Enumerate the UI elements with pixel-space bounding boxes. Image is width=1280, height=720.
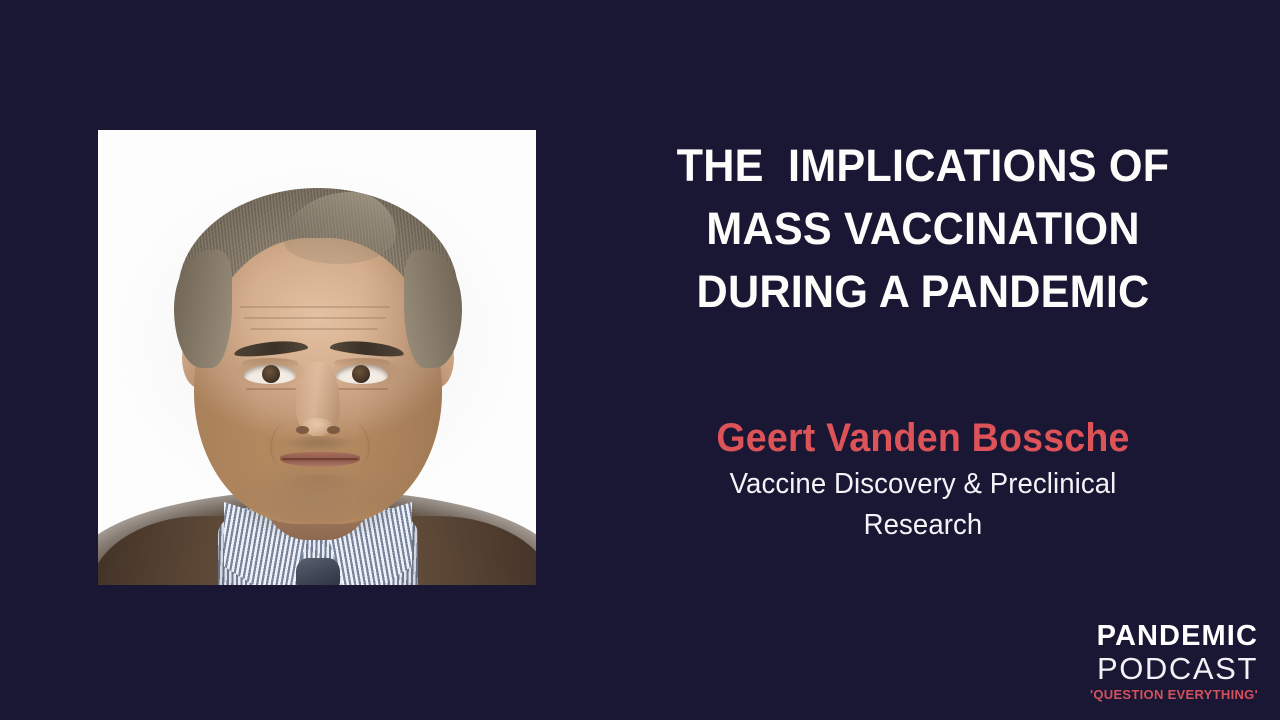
- portrait-chin-shadow: [278, 474, 362, 494]
- logo-tagline: 'QUESTION EVERYTHING': [1090, 686, 1258, 704]
- speaker-name: Geert Vanden Bossche: [587, 412, 1258, 464]
- portrait-eyelid-right: [334, 358, 390, 367]
- portrait-forehead-line: [244, 317, 386, 319]
- portrait-undereye-left: [246, 388, 296, 390]
- pandemic-podcast-logo: PANDEMIC PODCAST 'QUESTION EVERYTHING': [1090, 620, 1258, 704]
- presentation-slide: THE IMPLICATIONS OF MASS VACCINATION DUR…: [0, 0, 1280, 720]
- speaker-role-line-2: Research: [584, 505, 1262, 546]
- portrait-nostril-right: [327, 426, 340, 434]
- portrait-undereye-right: [338, 388, 388, 390]
- portrait-forehead-line: [250, 328, 378, 330]
- portrait-eyelid-left: [242, 358, 298, 367]
- slide-title: THE IMPLICATIONS OF MASS VACCINATION DUR…: [566, 134, 1280, 323]
- portrait-moustache: [284, 436, 354, 452]
- title-line-2: MASS VACCINATION: [580, 197, 1265, 260]
- slide-content-column: THE IMPLICATIONS OF MASS VACCINATION DUR…: [566, 0, 1280, 720]
- portrait-eye-left: [244, 364, 296, 384]
- logo-title-pandemic: PANDEMIC: [1090, 620, 1258, 652]
- speaker-portrait: [98, 130, 536, 585]
- logo-title-podcast: PODCAST: [1090, 652, 1258, 686]
- title-line-1: THE IMPLICATIONS OF: [580, 134, 1265, 197]
- portrait-iris-left: [262, 365, 280, 383]
- title-line-3: DURING A PANDEMIC: [580, 260, 1265, 323]
- portrait-necktie-knot: [296, 558, 340, 585]
- portrait-lip-line: [282, 458, 358, 460]
- speaker-info: Geert Vanden Bossche Vaccine Discovery &…: [566, 412, 1280, 546]
- portrait-photo-image: [98, 130, 536, 585]
- portrait-iris-right: [352, 365, 370, 383]
- portrait-forehead-line: [240, 306, 390, 308]
- portrait-eye-right: [336, 364, 388, 384]
- speaker-role-line-1: Vaccine Discovery & Preclinical: [584, 464, 1262, 505]
